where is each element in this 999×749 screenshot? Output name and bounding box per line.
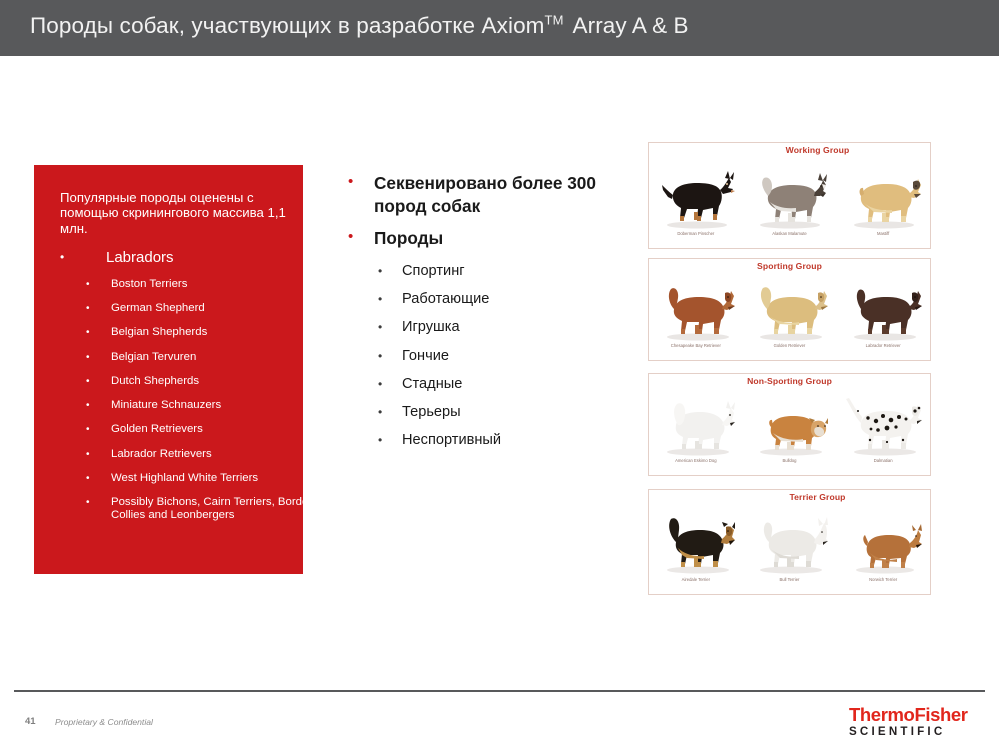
dog-caption: Labrador Retriever: [841, 343, 925, 348]
thermo-fisher-logo: ThermoFisher SCIENTIFIC: [849, 705, 969, 738]
red-panel-level2-label: Belgian Tervuren: [111, 351, 316, 364]
breeds-level2-label: Терьеры: [402, 403, 461, 421]
dog-silhouette-labrador-retriever: [843, 280, 923, 342]
dog-illustration-cell: Bull Terrier: [747, 512, 831, 582]
breeds-level2-label: Неспортивный: [402, 431, 501, 449]
red-panel-level2-label: Golden Retrievers: [111, 423, 316, 436]
red-panel-intro-text: Популярные породы оценены с помощью скри…: [60, 190, 298, 236]
dog-group-title: Sporting Group: [649, 261, 930, 271]
breeds-level2-label: Спортинг: [402, 262, 465, 280]
dog-group-title: Non-Sporting Group: [649, 376, 930, 386]
page-title-suffix: Array A & B: [573, 13, 689, 38]
dog-caption: Airedale Terrier: [654, 577, 738, 582]
dog-illustration-cell: Golden Retriever: [747, 280, 831, 348]
dog-silhouette-american-eskimo-dog: [656, 395, 736, 457]
bullet-icon: •: [86, 302, 90, 315]
bullet-icon: •: [60, 249, 64, 266]
dog-caption: Bull Terrier: [747, 577, 831, 582]
dog-illustration-cell: Norwich Terrier: [841, 512, 925, 582]
bullet-icon: •: [86, 496, 90, 509]
dog-group-image-non-sporting: Non-Sporting Group American Eskimo Dog: [648, 373, 931, 476]
dog-caption: Bulldog: [747, 458, 831, 463]
dog-silhouette-golden-retriever: [749, 280, 829, 342]
dog-caption: Dalmatian: [841, 458, 925, 463]
breeds-level1-label: Породы: [374, 227, 629, 250]
bullet-icon: •: [378, 319, 382, 336]
dog-caption: Mastiff: [841, 231, 925, 236]
bullet-icon: •: [378, 404, 382, 421]
dog-caption: Alaskan Malamute: [747, 231, 831, 236]
dog-illustration-cell: Alaskan Malamute: [747, 168, 831, 236]
bullet-icon: •: [378, 432, 382, 449]
red-panel-level2-label: Labrador Retrievers: [111, 448, 316, 461]
red-panel-level2-label: Dutch Shepherds: [111, 375, 316, 388]
red-panel-level2-label: German Shepherd: [111, 302, 316, 315]
bullet-icon: •: [378, 263, 382, 280]
trademark-superscript: TM: [545, 13, 564, 28]
bullet-icon: •: [378, 291, 382, 308]
page-title: Породы собак, участвующих в разработке A…: [30, 13, 689, 39]
page-title-main: Породы собак, участвующих в разработке A…: [30, 13, 545, 38]
red-panel-level1-label: Labradors: [106, 249, 174, 266]
dog-caption: Golden Retriever: [747, 343, 831, 348]
bullet-icon: •: [86, 351, 90, 364]
red-panel-level2-label: Belgian Shepherds: [111, 326, 316, 339]
dog-caption: Chesapeake Bay Retriever: [654, 343, 738, 348]
dog-silhouette-mastiff: [844, 168, 922, 230]
breeds-level2-label: Работающие: [402, 290, 489, 308]
logo-secondary-text: SCIENTIFIC: [849, 725, 969, 738]
breeds-level2-label: Игрушка: [402, 318, 460, 336]
dog-illustration-cell: Doberman Pinscher: [654, 168, 738, 236]
dog-illustration-cell: Dalmatian: [841, 395, 925, 463]
bullet-icon: •: [348, 173, 353, 191]
red-panel-level2-label: Boston Terriers: [111, 278, 316, 291]
bullet-icon: •: [86, 399, 90, 412]
dog-illustration-cell: Airedale Terrier: [654, 512, 738, 582]
dog-silhouette-norwich-terrier: [843, 512, 923, 576]
dog-silhouette-chesapeake-bay-retriever: [656, 280, 736, 342]
bullet-icon: •: [86, 423, 90, 436]
breeds-level2-label: Гончие: [402, 347, 449, 365]
confidentiality-notice: Proprietary & Confidential: [55, 717, 153, 727]
red-panel-level2-label: West Highland White Terriers: [111, 472, 316, 485]
bullet-icon: •: [86, 472, 90, 485]
dog-silhouette-alaskan-malamute: [750, 168, 828, 230]
bullet-icon: •: [378, 348, 382, 365]
dog-silhouette-airedale-terrier: [656, 512, 736, 576]
red-panel-level2-label: Possibly Bichons, Cairn Terriers, Border…: [111, 496, 316, 522]
slide-page-number: 41: [25, 716, 36, 727]
dog-group-title: Terrier Group: [649, 492, 930, 502]
slide-canvas: Породы собак, участвующих в разработке A…: [0, 0, 999, 749]
bullet-icon: •: [378, 376, 382, 393]
logo-primary-text: ThermoFisher: [849, 705, 969, 724]
red-callout-panel: Популярные породы оценены с помощью скри…: [34, 165, 303, 574]
dog-group-image-working: Working Group Doberman Pinscher: [648, 142, 931, 249]
dog-group-image-sporting: Sporting Group Chesapeake Bay Retriever: [648, 258, 931, 361]
bullet-icon: •: [86, 448, 90, 461]
dog-illustration-cell: Labrador Retriever: [841, 280, 925, 348]
dog-illustration-cell: Bulldog: [747, 395, 831, 463]
dog-silhouette-bull-terrier: [749, 512, 829, 576]
dog-illustration-cell: Chesapeake Bay Retriever: [654, 280, 738, 348]
bullet-icon: •: [86, 326, 90, 339]
slide-header-bar: Породы собак, участвующих в разработке A…: [0, 0, 999, 56]
dog-caption: Doberman Pinscher: [654, 231, 738, 236]
dog-silhouette-doberman-pinscher: [657, 168, 735, 230]
dog-group-image-terrier: Terrier Group Airedale Terrier: [648, 489, 931, 595]
red-panel-level2-label: Miniature Schnauzers: [111, 399, 316, 412]
dog-caption: Norwich Terrier: [841, 577, 925, 582]
dog-caption: American Eskimo Dog: [654, 458, 738, 463]
dog-silhouette-bulldog: [749, 395, 829, 457]
footer-divider: [14, 690, 985, 692]
breeds-level2-label: Стадные: [402, 375, 462, 393]
dog-illustration-cell: Mastiff: [841, 168, 925, 236]
dog-silhouette-dalmatian: [843, 395, 923, 457]
dog-illustration-cell: American Eskimo Dog: [654, 395, 738, 463]
breeds-level1-label: Секвенировано более 300 пород собак: [374, 172, 629, 218]
bullet-icon: •: [86, 375, 90, 388]
bullet-icon: •: [86, 278, 90, 291]
bullet-icon: •: [348, 228, 353, 246]
dog-group-title: Working Group: [649, 145, 930, 155]
